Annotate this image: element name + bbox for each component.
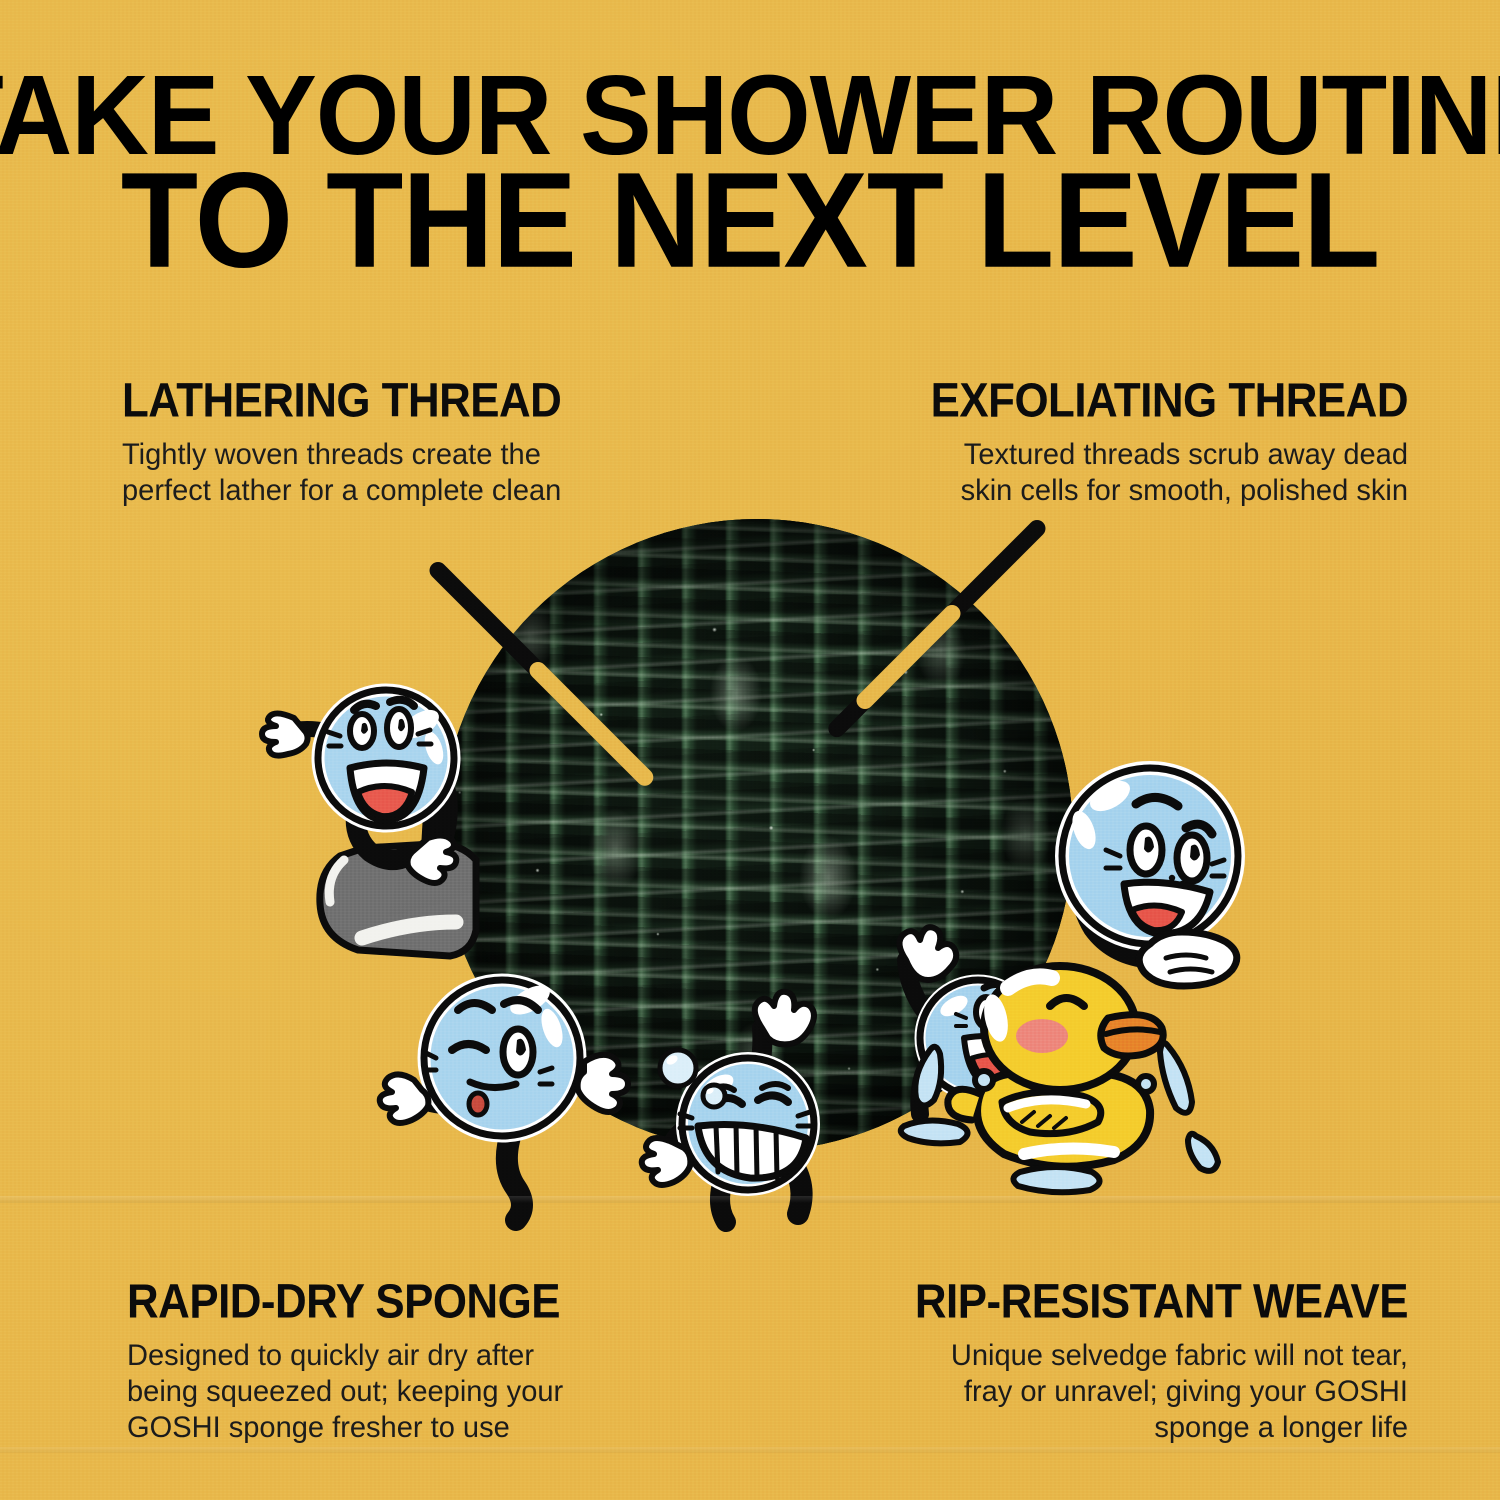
paper-crease-line-lower [0,1447,1500,1453]
feature-title-lathering: LATHERING THREAD [122,375,601,427]
product-infographic: TAKE YOUR SHOWER ROUTINE TO THE NEXT LEV… [0,0,1500,1500]
feature-exfoliating-thread: EXFOLIATING THREAD Textured threads scru… [908,378,1408,509]
feature-body-rapid-dry: Designed to quickly air dry after being … [127,1338,590,1446]
paper-crease-line [0,1196,1500,1203]
feature-title-exfoliating: EXFOLIATING THREAD [898,375,1408,427]
feature-title-rapid-dry: RAPID-DRY SPONGE [127,1276,606,1328]
feature-lathering-thread: LATHERING THREAD Tightly woven threads c… [122,378,592,509]
feature-title-rip-resistant: RIP-RESISTANT WEAVE [878,1276,1408,1328]
feature-rip-resistant-weave: RIP-RESISTANT WEAVE Unique selvedge fabr… [888,1279,1408,1446]
feature-rapid-dry-sponge: RAPID-DRY SPONGE Designed to quickly air… [127,1279,597,1446]
feature-body-rip-resistant: Unique selvedge fabric will not tear, fr… [896,1338,1408,1446]
feature-body-exfoliating: Textured threads scrub away dead skin ce… [916,437,1409,509]
fabric-weave-closeup [441,519,1073,1151]
weave-vignette [441,519,1073,1151]
feature-body-lathering: Tightly woven threads create the perfect… [122,437,585,509]
headline-line-2: TO THE NEXT LEVEL [0,153,1500,289]
